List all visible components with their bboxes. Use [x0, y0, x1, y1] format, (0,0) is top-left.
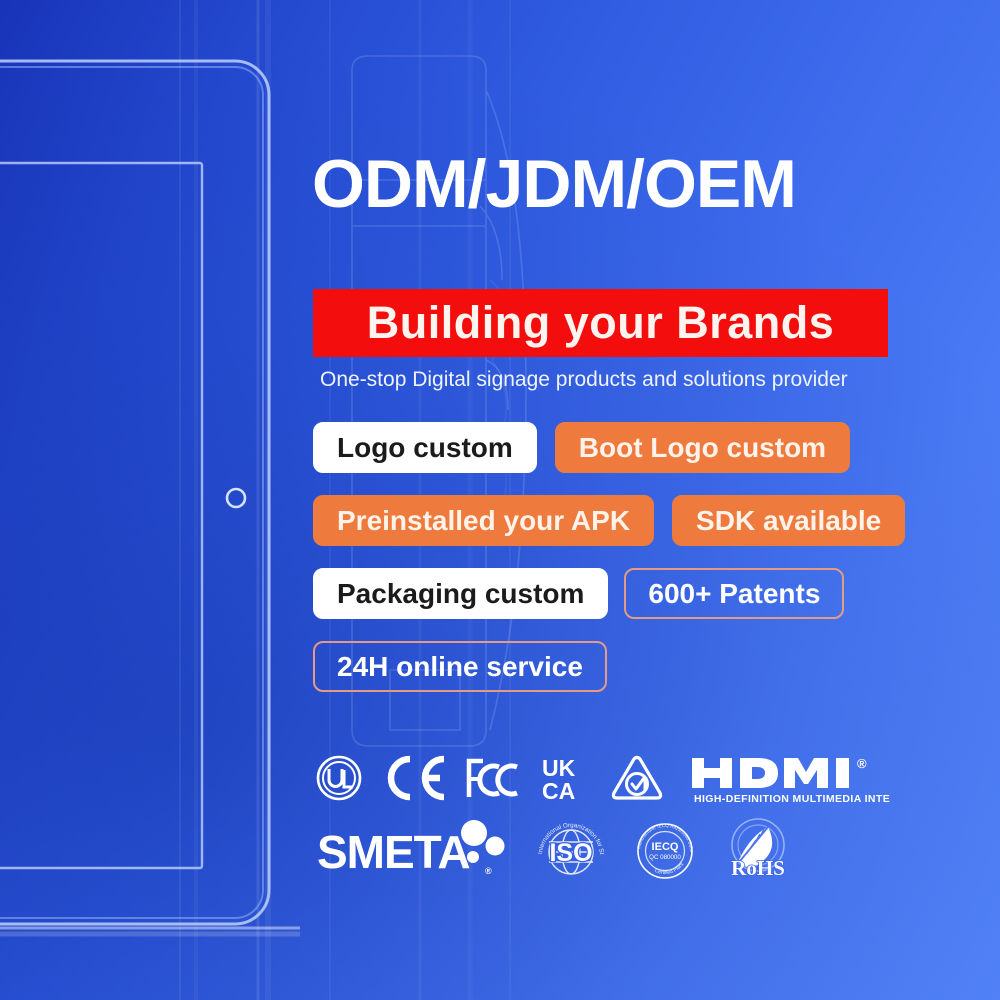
certification-logos: UK CA: [315, 748, 1000, 882]
ukca-icon: UK CA: [538, 752, 592, 804]
rohs-label: RoHS: [731, 856, 785, 880]
smeta-icon: SMETA ®: [315, 816, 510, 882]
subtitle: One-stop Digital signage products and so…: [320, 368, 848, 392]
iso-icon: International Organization for Standardi…: [532, 816, 610, 882]
svg-text:IECQ: IECQ: [652, 841, 679, 853]
svg-text:QC 080000: QC 080000: [649, 854, 681, 861]
tablet-screen: [0, 163, 202, 868]
certification-row-1: UK CA: [315, 748, 1000, 808]
feature-pill-600-patents[interactable]: 600+ Patents: [624, 568, 844, 619]
iecq-icon: Manufacturer IECQ Hazardous Substance Pr…: [632, 816, 698, 882]
feature-row-1: Logo custom Boot Logo custom: [313, 422, 850, 473]
rohs-icon: RoHS: [720, 814, 796, 884]
svg-text:SMETA: SMETA: [317, 826, 470, 878]
feature-pill-24h-online-service[interactable]: 24H online service: [313, 641, 607, 692]
front-camera-icon: [227, 489, 245, 507]
brand-banner-text: Building your Brands: [367, 297, 835, 349]
svg-text:®: ®: [857, 756, 867, 771]
svg-text:ISO: ISO: [549, 839, 592, 867]
rcm-icon: [609, 753, 665, 803]
feature-pill-sdk-available[interactable]: SDK available: [672, 495, 905, 546]
feature-row-2: Preinstalled your APK SDK available: [313, 495, 905, 546]
svg-text:®: ®: [485, 866, 492, 876]
feature-pill-packaging-custom[interactable]: Packaging custom: [313, 568, 608, 619]
feature-pill-logo-custom[interactable]: Logo custom: [313, 422, 537, 473]
feature-pill-boot-logo-custom[interactable]: Boot Logo custom: [555, 422, 850, 473]
tablet-outline: [0, 55, 275, 930]
banner-content: ODM/JDM/OEM Building your Brands One-sto…: [310, 0, 1000, 1000]
page-title: ODM/JDM/OEM: [312, 150, 796, 218]
hdmi-tagline: HIGH-DEFINITION MULTIMEDIA INTERFACE: [694, 793, 890, 805]
feature-row-3: Packaging custom 600+ Patents: [313, 568, 844, 619]
feature-pill-preinstalled-apk[interactable]: Preinstalled your APK: [313, 495, 654, 546]
brand-banner: Building your Brands: [313, 289, 888, 357]
certification-row-2: SMETA ®: [315, 816, 1000, 882]
ul-icon: [315, 753, 363, 803]
fcc-icon: [463, 753, 521, 803]
feature-row-4: 24H online service: [313, 641, 607, 692]
hdmi-icon: ® HIGH-DEFINITION MULTIMEDIA INTERFACE: [690, 750, 890, 806]
svg-text:CA: CA: [542, 778, 575, 804]
ce-icon: [380, 753, 446, 803]
tablet-body-inner-edge: [0, 67, 263, 918]
